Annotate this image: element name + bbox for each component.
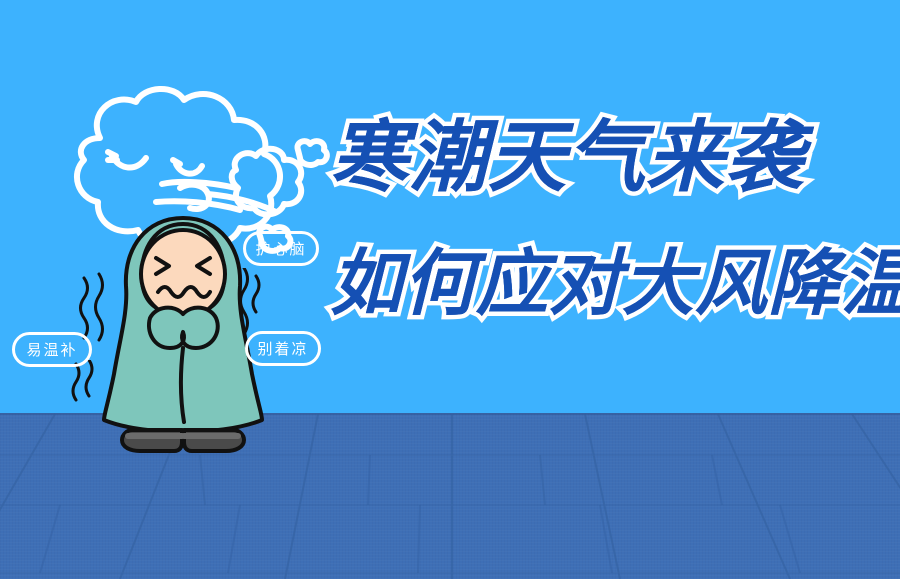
poster-canvas: 护心脑 易温补 别着凉 寒潮天气来袭 寒潮天气来袭 如何应对大风降温 如何应对大… [0,0,900,579]
face [141,230,225,318]
headline-block: 寒潮天气来袭 寒潮天气来袭 如何应对大风降温 如何应对大风降温 [330,108,870,348]
headline-line-2-fill: 如何应对大风降温 [330,248,900,320]
badge-yiwenbu[interactable]: 易温补 [12,332,92,367]
badge-huxinnao[interactable]: 护心脑 [243,231,319,266]
headline-line-1-fill: 寒潮天气来袭 [330,118,804,196]
badge-huxinnao-label: 护心脑 [255,238,306,259]
headline-line-1: 寒潮天气来袭 寒潮天气来袭 [330,118,804,196]
clasped-hands [149,308,218,348]
shoes [122,430,244,451]
badge-biezhaoliang-label: 别着凉 [257,338,308,359]
badge-biezhaoliang[interactable]: 别着凉 [245,331,321,366]
headline-line-2: 如何应对大风降温 如何应对大风降温 [330,248,900,320]
badge-yiwenbu-label: 易温补 [26,339,77,360]
